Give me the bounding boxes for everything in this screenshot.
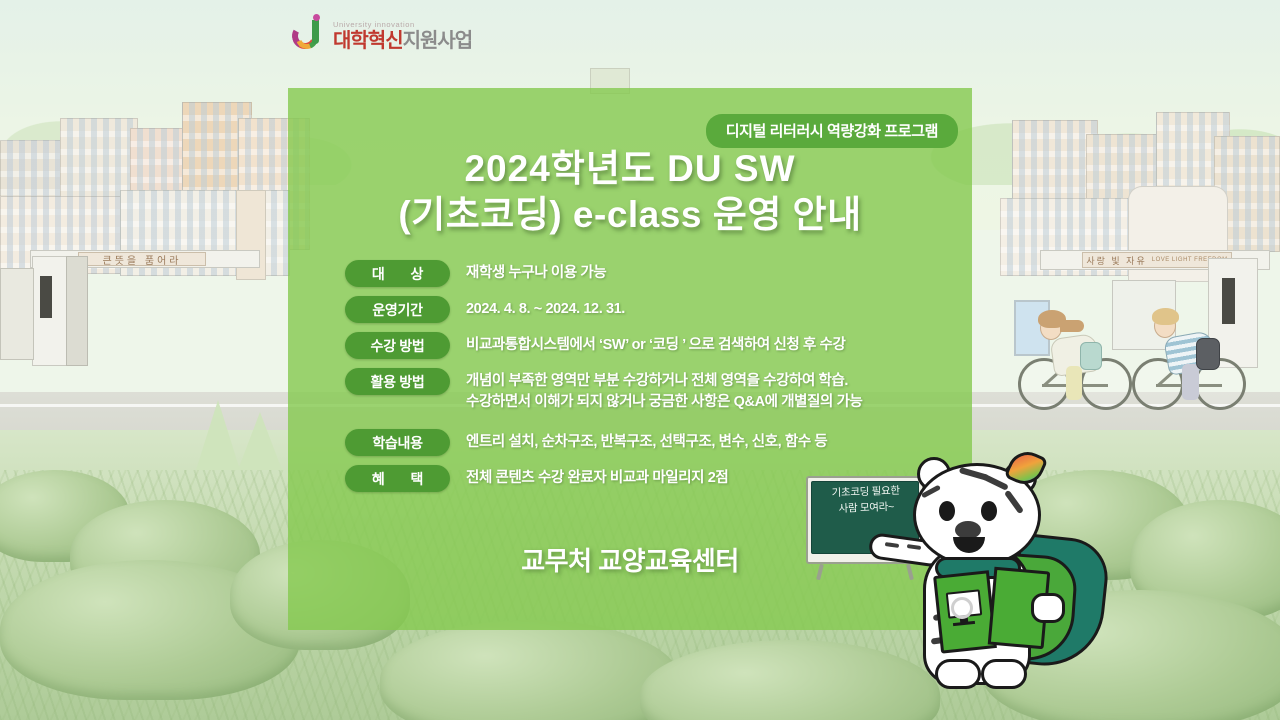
info-label-benefit-a: 혜 xyxy=(372,469,385,489)
gate-pillar-plate-left xyxy=(40,276,52,318)
university-innovation-logo: University innovation 대학혁신지원사업 xyxy=(292,14,472,58)
rider-backpack xyxy=(1196,338,1220,370)
info-value-usage: 개념이 부족한 영역만 부분 수강하거나 전체 영역을 수강하여 학습. 수강하… xyxy=(466,368,962,413)
info-row-list: 대상 재학생 누구나 이용 가능 운영기간 2024. 4. 8. ~ 2024… xyxy=(345,260,962,501)
cyclist-right xyxy=(1132,300,1262,430)
conifer-tree xyxy=(196,400,240,470)
chalkboard-stand xyxy=(814,564,916,580)
rider-ponytail xyxy=(1060,320,1084,332)
mascot-foot xyxy=(981,659,1027,689)
info-label-usage: 활용 방법 xyxy=(345,368,450,395)
gate-sign-right-kr: 사랑 빛 자유 xyxy=(1086,254,1146,267)
logo-korean-text: 대학혁신지원사업 xyxy=(333,31,472,51)
logo-dot-icon xyxy=(313,14,320,21)
white-tiger-mascot xyxy=(905,445,1135,720)
gate-sign-left: 큰뜻을 품어라 xyxy=(78,252,206,266)
program-badge: 디지털 리터러시 역량강화 프로그램 xyxy=(706,114,958,148)
info-row: 학습내용 엔트리 설치, 순차구조, 반복구조, 선택구조, 변수, 신호, 함… xyxy=(345,429,962,456)
mascot-medal xyxy=(951,597,973,619)
rider-leg xyxy=(1182,364,1199,400)
cyclist-left xyxy=(1018,300,1148,430)
info-label-benefit-b: 택 xyxy=(411,469,424,489)
logo-text-block: University innovation 대학혁신지원사업 xyxy=(333,21,472,51)
page-title-line2: (기초코딩) e-class 운영 안내 xyxy=(288,192,972,238)
info-row: 운영기간 2024. 4. 8. ~ 2024. 12. 31. xyxy=(345,296,962,323)
info-label-target-b: 상 xyxy=(411,264,424,284)
info-value-enrollment: 비교과통합시스템에서 ‘SW’ or ‘코딩 ’ 으로 검색하여 신청 후 수강 xyxy=(466,332,845,356)
info-label-curriculum: 학습내용 xyxy=(345,429,450,456)
rider-hair xyxy=(1152,308,1179,325)
gate-wall-left xyxy=(0,268,34,360)
rider-leg xyxy=(1066,366,1082,400)
mascot-foot xyxy=(935,659,981,689)
info-row: 대상 재학생 누구나 이용 가능 xyxy=(345,260,962,287)
logo-korean-secondary: 지원사업 xyxy=(403,30,473,52)
info-row: 수강 방법 비교과통합시스템에서 ‘SW’ or ‘코딩 ’ 으로 검색하여 신… xyxy=(345,332,962,359)
info-value-period: 2024. 4. 8. ~ 2024. 12. 31. xyxy=(466,296,625,320)
logo-korean-primary: 대학혁신 xyxy=(333,30,403,52)
info-label-enrollment: 수강 방법 xyxy=(345,332,450,359)
info-value-usage-line1: 개념이 부족한 영역만 부분 수강하거나 전체 영역을 수강하여 학습. xyxy=(466,371,962,392)
poster-canvas: 큰뜻을 품어라 사랑 빛 자유 LOVE LIGHT FREEDOM xyxy=(0,0,1280,720)
info-value-target: 재학생 누구나 이용 가능 xyxy=(466,260,606,284)
logo-english-text: University innovation xyxy=(333,21,472,29)
mascot-eye xyxy=(939,501,955,521)
logo-j-stroke-icon xyxy=(312,20,319,44)
info-value-curriculum: 엔트리 설치, 순차구조, 반복구조, 선택구조, 변수, 신호, 함수 등 xyxy=(466,429,827,453)
info-row: 활용 방법 개념이 부족한 영역만 부분 수강하거나 전체 영역을 수강하여 학… xyxy=(345,368,962,413)
page-title-line1: 2024학년도 DU SW xyxy=(288,146,972,192)
logo-mark-icon xyxy=(292,18,326,54)
info-label-target-a: 대 xyxy=(372,264,385,284)
mascot-eye xyxy=(981,501,997,521)
rider-backpack xyxy=(1080,342,1102,370)
page-title: 2024학년도 DU SW (기초코딩) e-class 운영 안내 xyxy=(288,146,972,239)
info-value-usage-line2: 수강하면서 이해가 되지 않거나 궁금한 사항은 Q&A에 개별질의 가능 xyxy=(466,392,962,413)
info-value-benefit: 전체 콘텐츠 수강 완료자 비교과 마일리지 2점 xyxy=(466,465,728,489)
conifer-tree xyxy=(238,412,282,470)
info-label-target: 대상 xyxy=(345,260,450,287)
info-label-benefit: 혜택 xyxy=(345,465,450,492)
gate-pillar-left-inner xyxy=(66,256,88,366)
chalkboard-leg xyxy=(816,564,824,580)
mascot-hand xyxy=(1031,593,1065,623)
info-label-period: 운영기간 xyxy=(345,296,450,323)
